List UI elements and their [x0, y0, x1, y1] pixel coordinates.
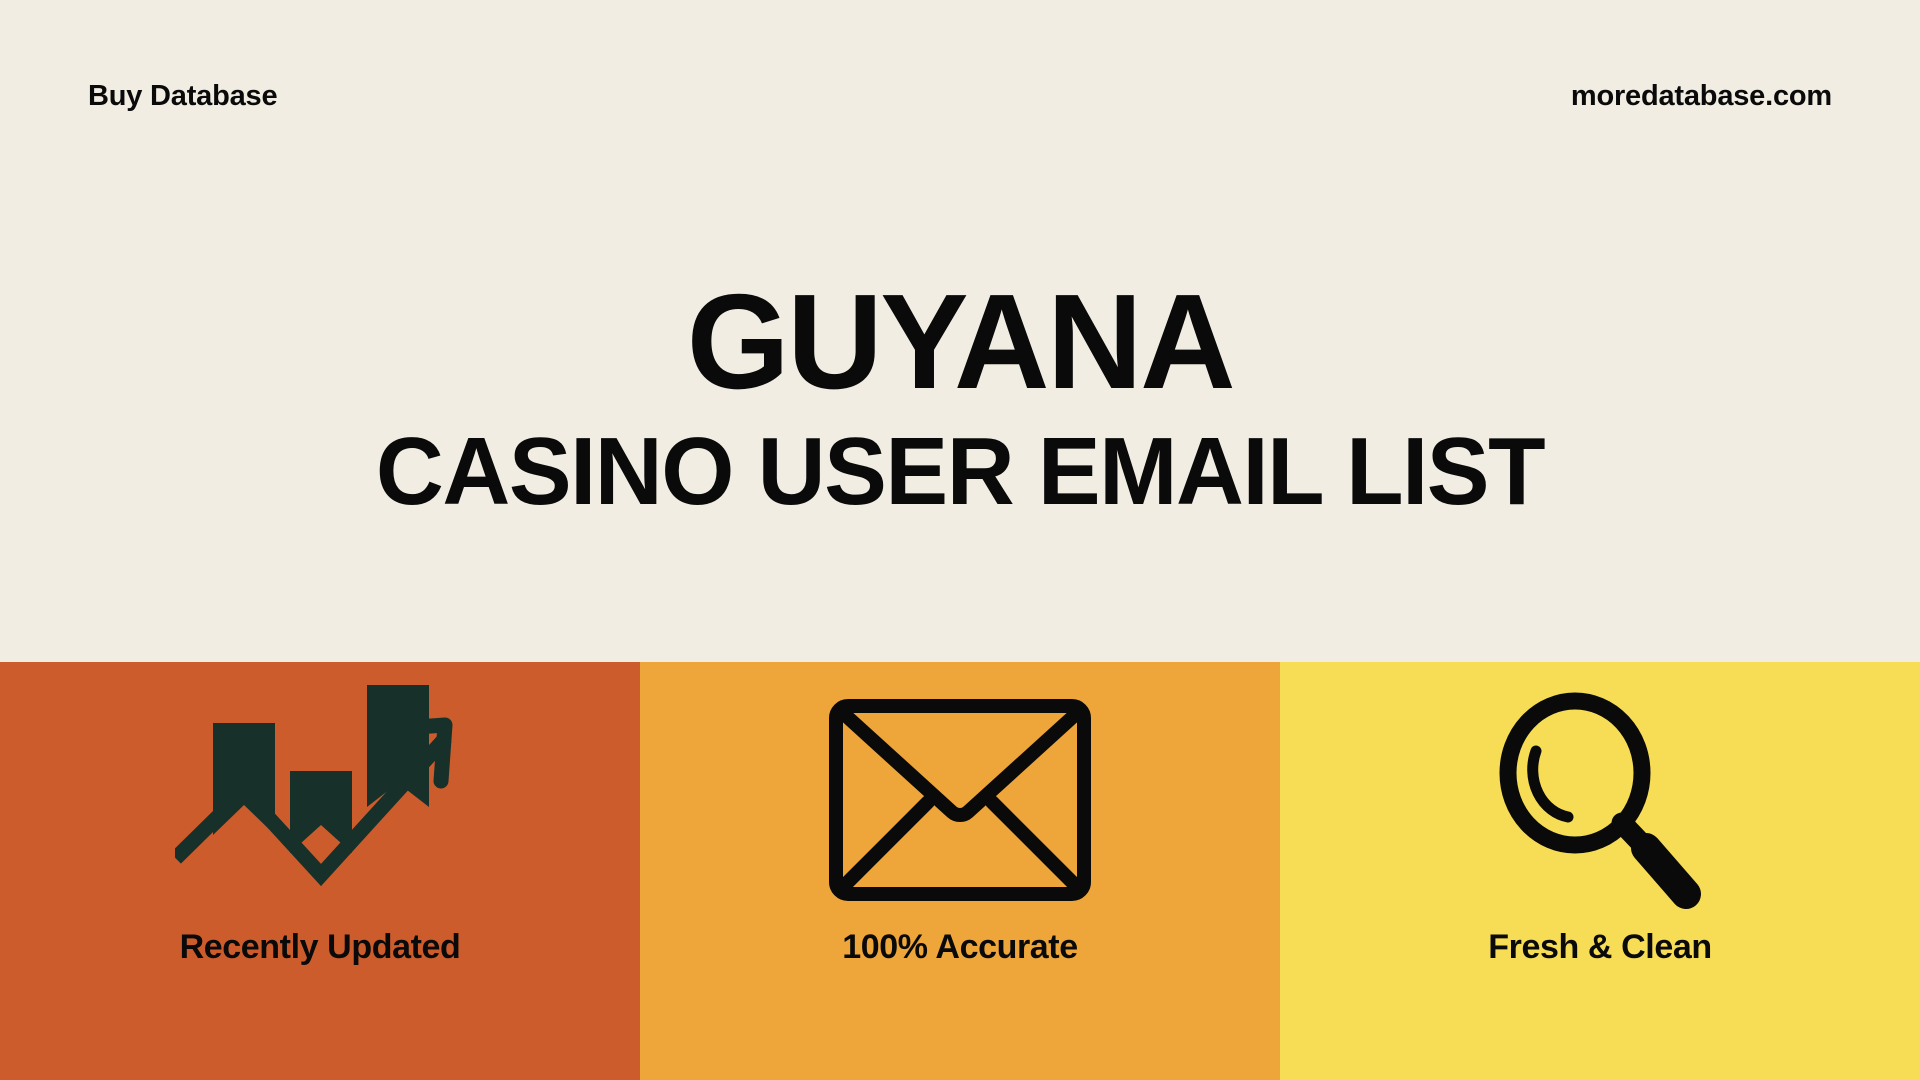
magnifier-icon	[1494, 691, 1706, 909]
icon-container	[0, 662, 640, 930]
icon-container	[1280, 662, 1920, 930]
feature-panel-fresh-clean: Fresh & Clean	[1280, 662, 1920, 1080]
page-subtitle: CASINO USER EMAIL LIST	[19, 424, 1901, 520]
icon-container	[640, 662, 1280, 930]
headline-block: GUYANA CASINO USER EMAIL LIST	[0, 278, 1920, 520]
top-bar: Buy Database moredatabase.com	[88, 82, 1832, 111]
feature-panel-recently-updated: Recently Updated	[0, 662, 640, 1080]
envelope-icon	[829, 699, 1091, 901]
website-url-label: moredatabase.com	[1571, 82, 1832, 111]
page-title: GUYANA	[19, 278, 1901, 406]
hero-section: Buy Database moredatabase.com GUYANA CAS…	[0, 0, 1920, 662]
panel-caption-accurate: 100% Accurate	[842, 930, 1077, 964]
feature-panels: Recently Updated 100% Accurate	[0, 662, 1920, 1080]
growth-bar-chart-arrow-icon	[175, 685, 465, 915]
poster-canvas: Buy Database moredatabase.com GUYANA CAS…	[0, 0, 1920, 1080]
feature-panel-accurate: 100% Accurate	[640, 662, 1280, 1080]
panel-caption-fresh-clean: Fresh & Clean	[1488, 930, 1711, 964]
panel-caption-recently-updated: Recently Updated	[180, 930, 461, 964]
brand-label-left: Buy Database	[88, 82, 277, 111]
